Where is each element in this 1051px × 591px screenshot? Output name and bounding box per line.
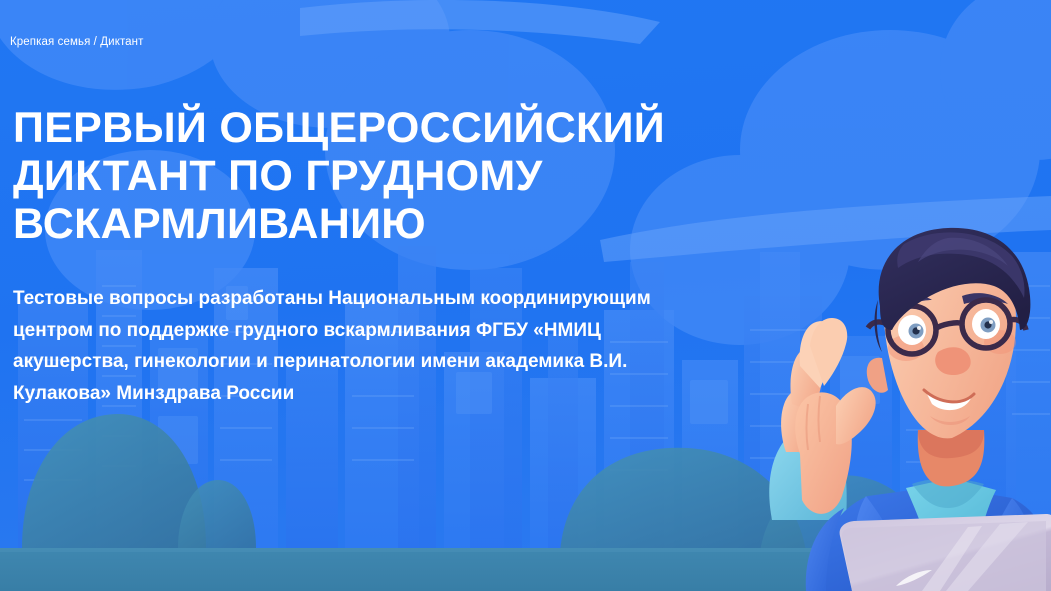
hero-description: Тестовые вопросы разработаны Национальны…	[13, 283, 673, 409]
hero-banner: Крепкая семья / Диктант ПЕРВЫЙ ОБЩЕРОССИ…	[0, 0, 1051, 591]
breadcrumb[interactable]: Крепкая семья / Диктант	[10, 36, 144, 48]
page-title: ПЕРВЫЙ ОБЩЕРОССИЙСКИЙ ДИКТАНТ ПО ГРУДНОМ…	[13, 104, 713, 248]
